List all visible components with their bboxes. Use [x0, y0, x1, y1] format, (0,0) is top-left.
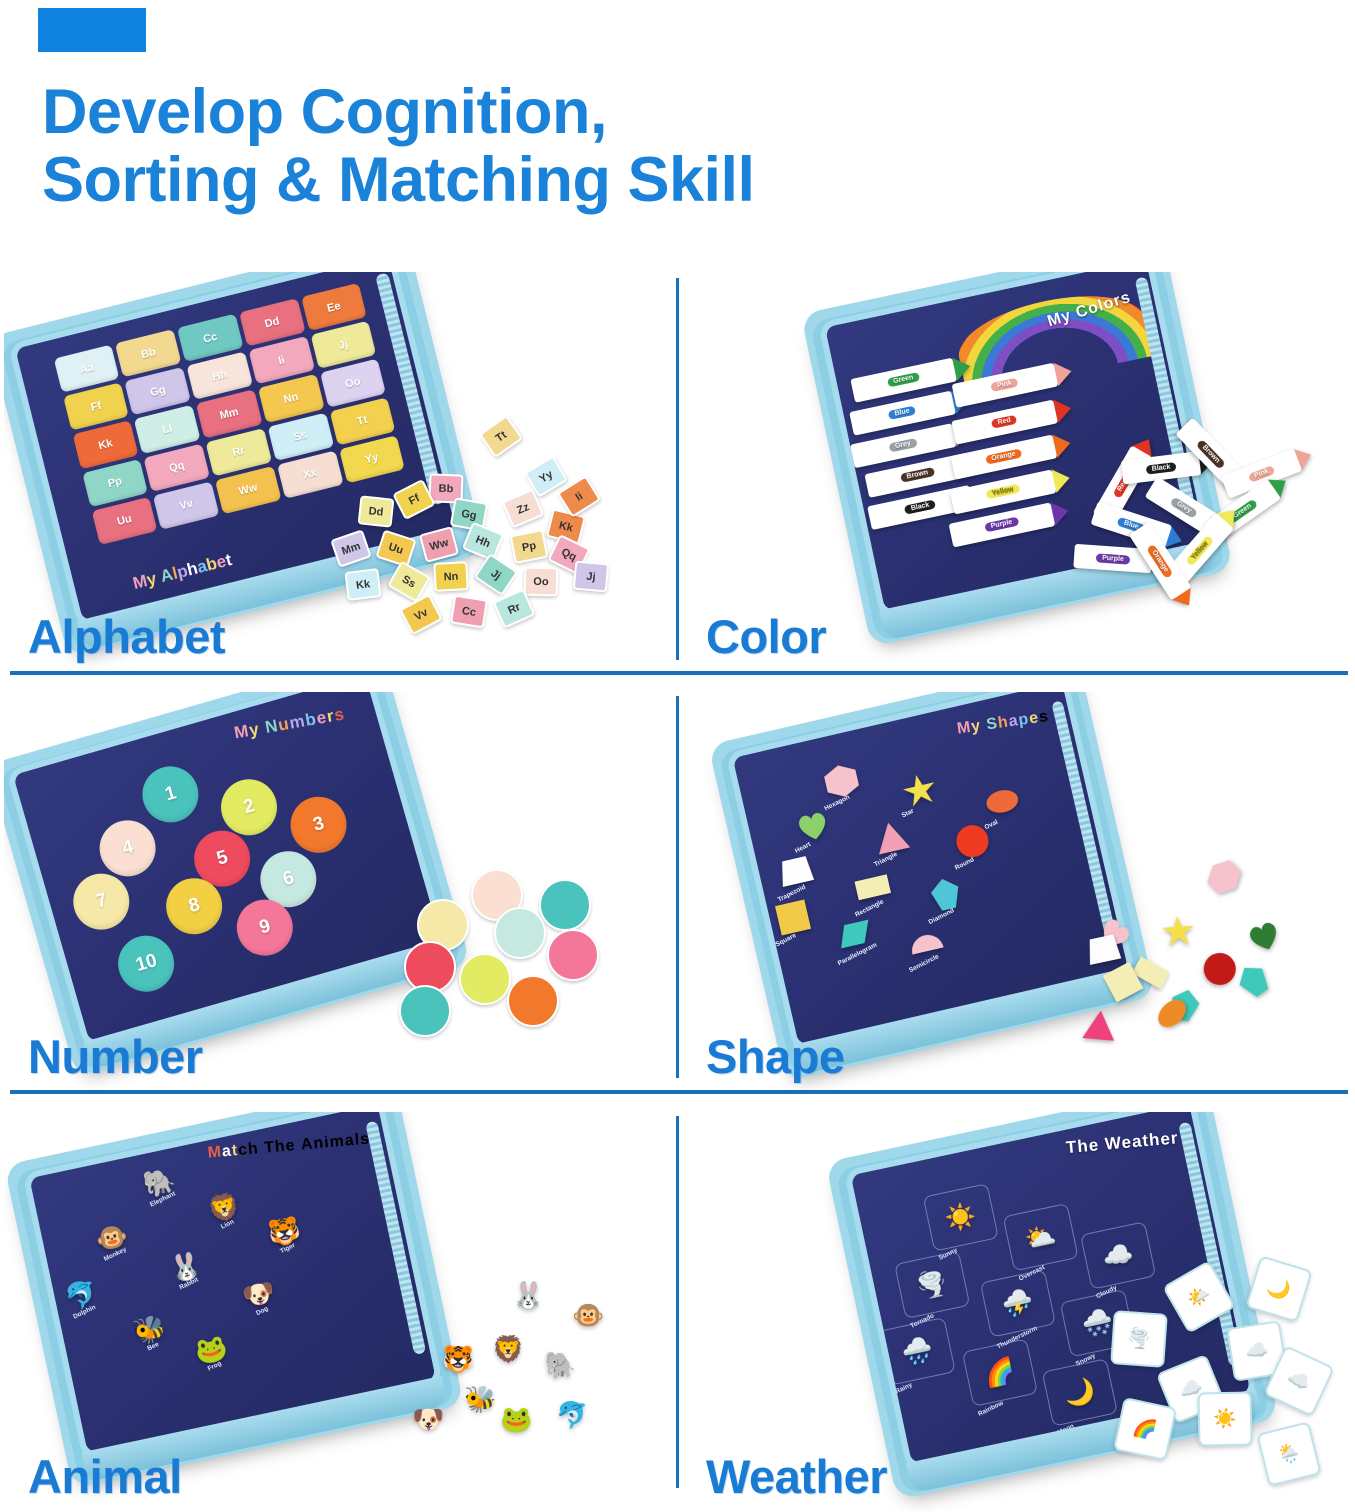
headline-line-2: Sorting & Matching Skill [42, 146, 1142, 214]
animal-loose-piece: 🐰 [512, 1280, 544, 1311]
animal-slot: 🐸Frog [192, 1333, 231, 1373]
brand-accent-square [38, 8, 146, 52]
weather-icon: 🌨️ [1079, 1306, 1115, 1341]
number-loose-discs [399, 857, 659, 1047]
shape-slot: Heart [792, 804, 835, 847]
animal-slot: 🐰Rabbit [167, 1250, 206, 1290]
weather-slot: 🌧️Rainy [879, 1317, 955, 1385]
page-title: Develop Cognition, Sorting & Matching Sk… [42, 78, 1142, 214]
weather-icon: 🌈 [981, 1355, 1017, 1390]
divider-vertical-row3 [676, 1116, 679, 1488]
shape-glyph [1160, 913, 1197, 954]
alphabet-loose-tile: Vv [399, 594, 443, 636]
number-loose-disc [547, 929, 599, 981]
number-circle: 1 [136, 760, 205, 829]
panel-label-animal: Animal [28, 1449, 182, 1504]
crayon-label: Brown [900, 467, 935, 483]
crayon-label: Orange [985, 449, 1023, 465]
panel-weather[interactable]: The Weather ☀️Sunny⛅Overcast☁️Cloudy🌪️To… [682, 1112, 1352, 1512]
weather-icon: 🌪️ [914, 1268, 950, 1303]
weather-loose-cards: 🌤️🌙🌪️☁️☁️☁️🌈☀️🌦️ [1112, 1262, 1347, 1477]
shape-slot: Hexagon [821, 760, 864, 803]
panel-alphabet[interactable]: AaBbCcDdEeFfGgHhIiJjKkLlMmNnOoPpQqRrSsTt… [4, 272, 674, 672]
number-loose-disc [459, 953, 511, 1005]
weather-loose-card: 🌙 [1245, 1255, 1312, 1322]
animal-slot: 🐶Dog [240, 1278, 279, 1318]
panel-label-color: Color [706, 609, 826, 664]
weather-icon: 🌧️ [899, 1334, 935, 1369]
alphabet-loose-tile: Nn [433, 561, 468, 592]
animal-slot: 🐬Dolphin [62, 1279, 101, 1319]
shape-glyph [982, 781, 1024, 827]
alphabet-loose-tile: Ww [419, 526, 459, 563]
weather-slot: ☀️Sunny [922, 1183, 998, 1251]
number-circle: 10 [112, 929, 181, 998]
animal-slot: 🐝Bee [131, 1313, 170, 1353]
alphabet-loose-tiles: TtBbYyDdFfGgZzKkMmUuWwHhPpQqKkSsNnJjOoIi… [334, 422, 664, 632]
panel-shape[interactable]: My Shapes HexagonStarHeartOvalTriangleTr… [682, 692, 1352, 1092]
weather-loose-card: 🌈 [1113, 1397, 1177, 1461]
weather-loose-card: 🌤️ [1162, 1260, 1236, 1334]
alphabet-loose-tile: Uu [375, 529, 416, 567]
crayon-label: Green [887, 372, 920, 388]
weather-icon: ☀️ [942, 1200, 978, 1235]
crayon-label: Grey [888, 438, 917, 453]
animal-loose-piece: 🐘 [544, 1350, 576, 1381]
number-loose-disc [539, 879, 591, 931]
shape-slot: Oval [982, 781, 1025, 824]
shape-loose-pieces [1082, 867, 1337, 1052]
weather-slot: ⛅Overcast [1002, 1203, 1078, 1271]
number-book-title: My Numbers [233, 704, 347, 743]
animal-loose-pieces: 🐰🐵🦁🐘🐯🐝🐶🐸🐬 [404, 1272, 664, 1467]
animal-loose-piece: 🐵 [572, 1300, 604, 1331]
alphabet-loose-tile: Dd [358, 495, 395, 527]
weather-slot: 🌙Moon [1041, 1358, 1117, 1426]
crayon-label: Grey [1170, 496, 1198, 518]
crayon-label: Purple [1096, 553, 1130, 564]
panel-label-alphabet: Alphabet [28, 609, 225, 664]
panel-color[interactable]: My Colors GreenBlueGreyBrownBlackPinkRed… [682, 272, 1352, 672]
alphabet-loose-tile: Kk [344, 568, 381, 601]
shape-glyph [899, 769, 941, 815]
weather-book-title: The Weather [1066, 1128, 1180, 1158]
animal-loose-piece: 🐸 [500, 1404, 532, 1435]
crayon-label: Yellow [1185, 535, 1214, 566]
weather-label: Rainy [894, 1382, 913, 1396]
shape-slot: Parallelogram [834, 913, 877, 956]
crayon-label: Purple [984, 517, 1019, 533]
crayon-label: Red [991, 415, 1018, 429]
color-loose-crayons: RedBlackBrownPinkGreyGreenBlueYellowPurp… [1062, 437, 1352, 622]
alphabet-loose-tile: Cc [450, 595, 488, 629]
feature-grid: AaBbCcDdEeFfGgHhIiJjKkLlMmNnOoPpQqRrSsTt… [0, 272, 1355, 1500]
crayon-label: Blue [888, 406, 916, 420]
animal-loose-piece: 🐶 [412, 1404, 444, 1435]
shape-slot: Round [952, 820, 995, 863]
alphabet-loose-tile: Jj [474, 553, 518, 596]
shape-slot: Star [899, 769, 942, 812]
panel-animal[interactable]: Match The Animals 🐘Elephant🦁Lion🐵Monkey🐯… [4, 1112, 674, 1512]
panel-label-weather: Weather [706, 1449, 887, 1504]
alphabet-loose-tile: Oo [524, 567, 559, 597]
animal-loose-piece: 🐯 [442, 1344, 474, 1375]
number-loose-disc [507, 975, 559, 1027]
animal-book-title: Match The Animals [207, 1130, 371, 1162]
shape-glyph [792, 804, 834, 850]
header: Develop Cognition, Sorting & Matching Sk… [0, 0, 1355, 270]
alphabet-loose-tile: Tt [479, 415, 523, 458]
divider-vertical-row2 [676, 696, 679, 1078]
shape-slot: Trapezoid [775, 851, 818, 894]
shape-glyph [1081, 1007, 1118, 1049]
divider-vertical-row1 [676, 278, 679, 660]
shape-slot: Rectangle [852, 866, 895, 909]
panel-label-shape: Shape [706, 1029, 845, 1084]
number-circle: 7 [67, 867, 136, 936]
shape-slot: Triangle [871, 816, 914, 859]
crayon-label: Pink [991, 378, 1019, 392]
animal-slot: 🐘Elephant [141, 1166, 180, 1206]
headline-line-1: Develop Cognition, [42, 77, 607, 147]
number-loose-disc [494, 907, 546, 959]
animal-loose-piece: 🐬 [556, 1400, 588, 1431]
weather-loose-card: 🌪️ [1110, 1310, 1168, 1368]
weather-icon: ⛅ [1022, 1220, 1058, 1255]
weather-slot: 🌪️Tornado [894, 1251, 970, 1319]
animal-book: Match The Animals 🐘Elephant🦁Lion🐵Monkey🐯… [4, 1112, 464, 1488]
number-circles: 12345678910 [13, 692, 364, 775]
panel-label-number: Number [28, 1029, 203, 1084]
alphabet-loose-tile: Jj [573, 561, 609, 593]
shape-book-title: My Shapes [956, 708, 1050, 739]
alphabet-loose-tile: Pp [510, 529, 549, 564]
weather-icon: 🌙 [1061, 1375, 1097, 1410]
weather-label: Rainbow [977, 1400, 1004, 1418]
crayon-label: Black [904, 500, 936, 515]
weather-slot: ⛈️Thunderstorm [979, 1269, 1055, 1337]
number-loose-disc [399, 985, 451, 1037]
animal-slot: 🐯Tiger [266, 1215, 305, 1255]
animal-loose-piece: 🦁 [492, 1334, 524, 1365]
crayon-label: Black [1145, 462, 1177, 475]
animal-slot: 🦁Lion [205, 1191, 244, 1231]
weather-icon: ⛈️ [999, 1286, 1035, 1321]
shape-glyph [1242, 913, 1287, 961]
animal-slot: 🐵Monkey [93, 1221, 132, 1261]
number-circle: 3 [284, 790, 353, 859]
alphabet-loose-tile: Mm [330, 529, 372, 567]
panel-number[interactable]: My Numbers 12345678910 Number [4, 692, 674, 1092]
weather-loose-card: ☀️ [1198, 1392, 1253, 1447]
shape-slot: Semicircle [906, 921, 949, 964]
weather-loose-card: 🌦️ [1256, 1421, 1321, 1486]
shape-slot: Diamond [926, 874, 969, 917]
shape-glyph [1196, 947, 1242, 996]
shape-slot: Square [773, 897, 816, 940]
crayon-label: Yellow [985, 484, 1020, 500]
shape-label: Round [954, 856, 976, 872]
animal-loose-piece: 🐝 [464, 1384, 496, 1415]
shape-glyph [1200, 853, 1252, 905]
weather-slot: 🌈Rainbow [961, 1339, 1037, 1407]
